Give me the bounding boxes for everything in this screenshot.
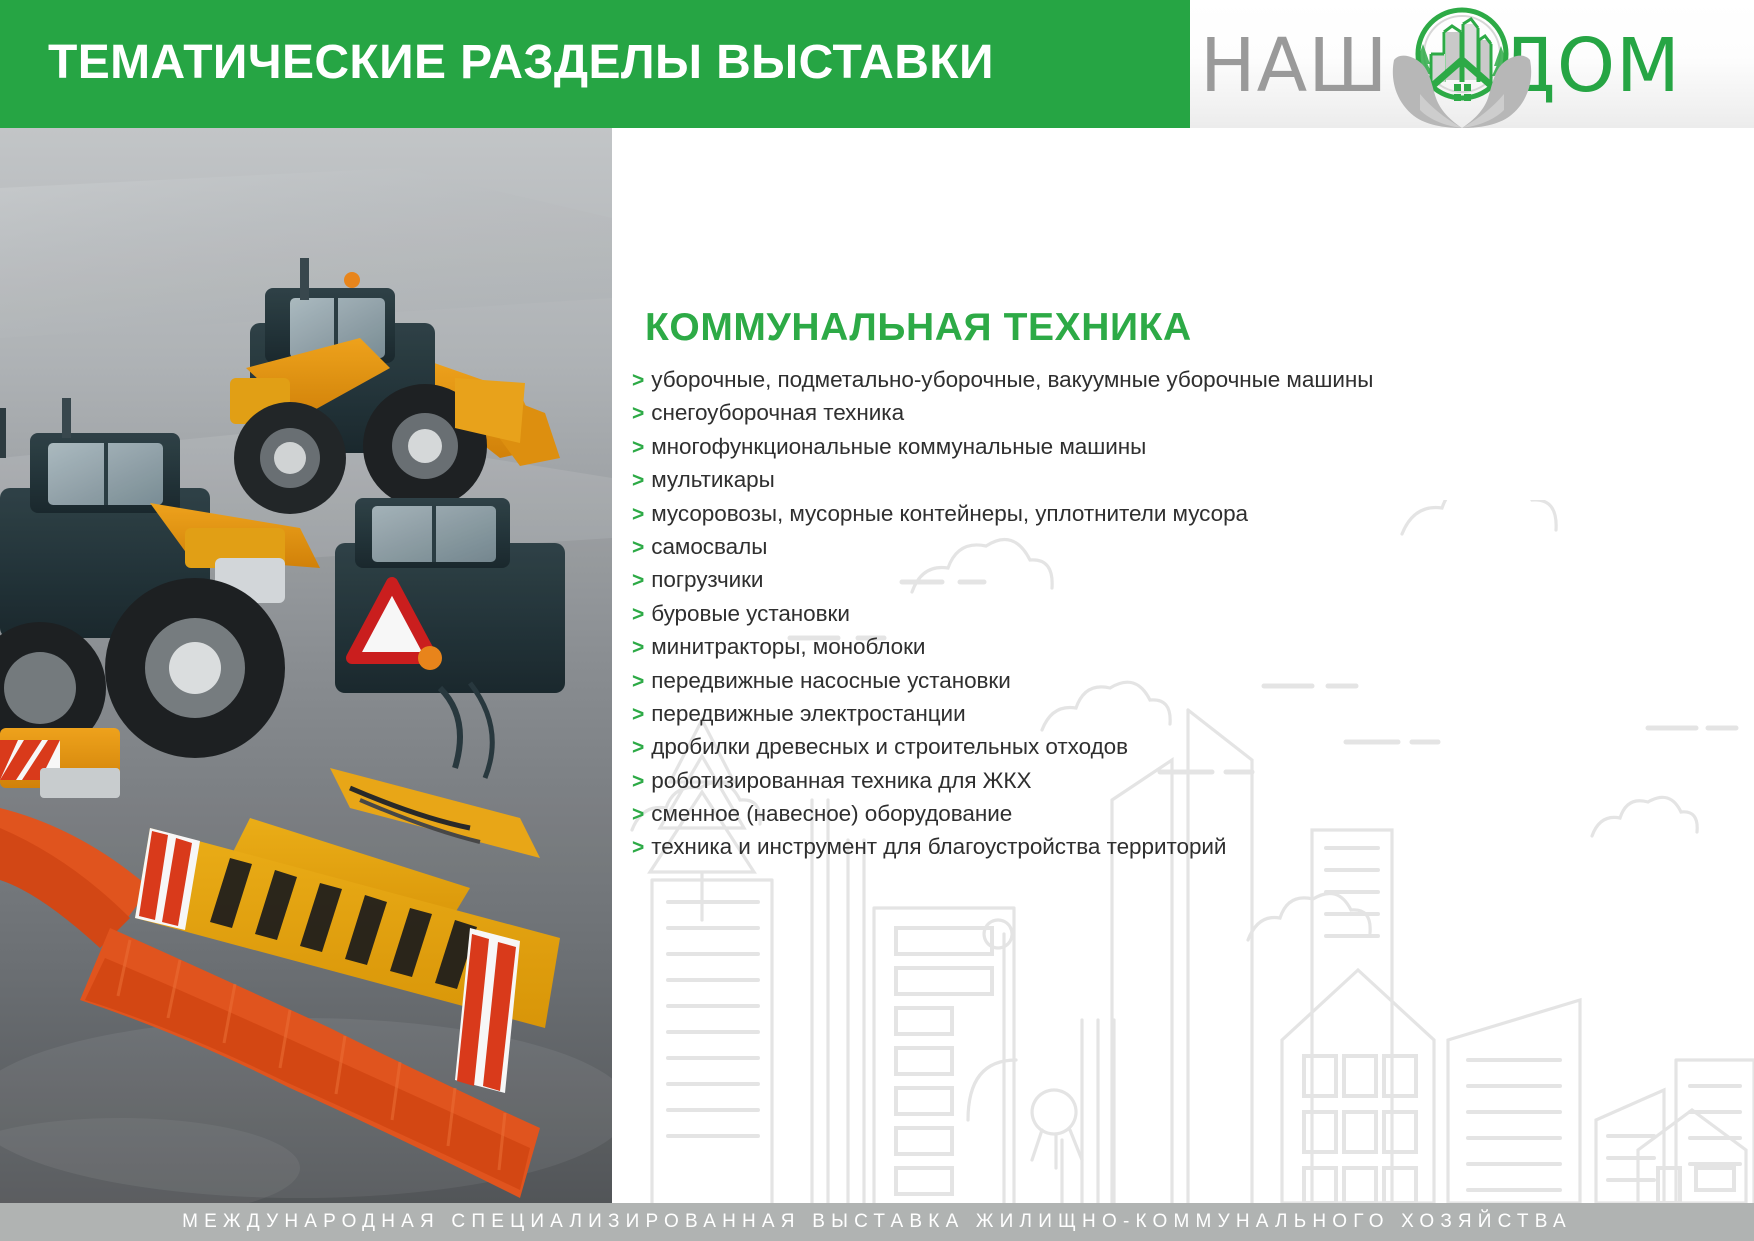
list-item-label: дробилки древесных и строительных отходо… — [651, 736, 1128, 759]
list-item-label: снегоуборочная техника — [651, 402, 904, 425]
municipal-machinery-photo-illustration — [0, 128, 612, 1203]
list-item: >роботизированная техника для ЖКХ — [632, 770, 1742, 803]
page-title: ТЕМАТИЧЕСКИЕ РАЗДЕЛЫ ВЫСТАВКИ — [48, 32, 1138, 94]
list-item: >самосвалы — [632, 536, 1742, 569]
list-item-label: мусоровозы, мусорные контейнеры, уплотни… — [651, 503, 1248, 526]
list-item-label: сменное (навесное) оборудование — [651, 803, 1012, 826]
chevron-right-icon: > — [632, 470, 644, 491]
list-item-label: самосвалы — [651, 536, 767, 559]
list-item: >минитракторы, моноблоки — [632, 636, 1742, 669]
exhibition-photo — [0, 128, 612, 1203]
list-item-label: техника и инструмент для благоустройства… — [651, 836, 1226, 859]
list-item-label: передвижные электростанции — [651, 703, 965, 726]
chevron-right-icon: > — [632, 604, 644, 625]
chevron-right-icon: > — [632, 504, 644, 525]
chevron-right-icon: > — [632, 771, 644, 792]
list-item-label: буровые установки — [651, 603, 850, 626]
list-item: >передвижные электростанции — [632, 703, 1742, 736]
chevron-right-icon: > — [632, 637, 644, 658]
list-item-label: передвижные насосные установки — [651, 670, 1010, 693]
list-item-label: уборочные, подметально-уборочные, вакуум… — [651, 369, 1373, 392]
list-item: >дробилки древесных и строительных отход… — [632, 736, 1742, 769]
list-item: >мусоровозы, мусорные контейнеры, уплотн… — [632, 503, 1742, 536]
chevron-right-icon: > — [632, 804, 644, 825]
list-item: >техника и инструмент для благоустройств… — [632, 836, 1742, 869]
chevron-right-icon: > — [632, 370, 644, 391]
chevron-right-icon: > — [632, 671, 644, 692]
chevron-right-icon: > — [632, 837, 644, 858]
chevron-right-icon: > — [632, 403, 644, 424]
list-item: >передвижные насосные установки — [632, 670, 1742, 703]
page-header: ТЕМАТИЧЕСКИЕ РАЗДЕЛЫ ВЫСТАВКИ НАШ ДОМ — [0, 0, 1754, 128]
list-item-label: минитракторы, моноблоки — [651, 636, 925, 659]
list-item: >сменное (навесное) оборудование — [632, 803, 1742, 836]
list-item: >уборочные, подметально-уборочные, вакуу… — [632, 369, 1742, 402]
footer-tagline: МЕЖДУНАРОДНАЯ СПЕЦИАЛИЗИРОВАННАЯ ВЫСТАВК… — [182, 1211, 1572, 1233]
logo-area: НАШ ДОМ — [1190, 0, 1754, 128]
chevron-right-icon: > — [632, 570, 644, 591]
list-item-label: многофункциональные коммунальные машины — [651, 436, 1146, 459]
category-list: >уборочные, подметально-уборочные, вакуу… — [632, 369, 1742, 870]
page-footer: МЕЖДУНАРОДНАЯ СПЕЦИАЛИЗИРОВАННАЯ ВЫСТАВК… — [0, 1203, 1754, 1241]
list-item: >буровые установки — [632, 603, 1742, 636]
list-item: >многофункциональные коммунальные машины — [632, 436, 1742, 469]
list-item-label: погрузчики — [651, 569, 763, 592]
list-item-label: мультикары — [651, 469, 774, 492]
logo-word-nash: НАШ — [1200, 26, 1388, 106]
section-title: КОММУНАЛЬНАЯ ТЕХНИКА — [645, 306, 1192, 350]
chevron-right-icon: > — [632, 704, 644, 725]
nash-dom-logo[interactable]: НАШ ДОМ — [1190, 0, 1754, 128]
chevron-right-icon: > — [632, 537, 644, 558]
chevron-right-icon: > — [632, 737, 644, 758]
main-content: КОММУНАЛЬНАЯ ТЕХНИКА >уборочные, подмета… — [612, 128, 1754, 1203]
list-item: >погрузчики — [632, 569, 1742, 602]
list-item-label: роботизированная техника для ЖКХ — [651, 770, 1031, 793]
house-buildings-in-hands-emblem — [1386, 2, 1538, 128]
list-item: >снегоуборочная техника — [632, 402, 1742, 435]
list-item: >мультикары — [632, 469, 1742, 502]
chevron-right-icon: > — [632, 437, 644, 458]
